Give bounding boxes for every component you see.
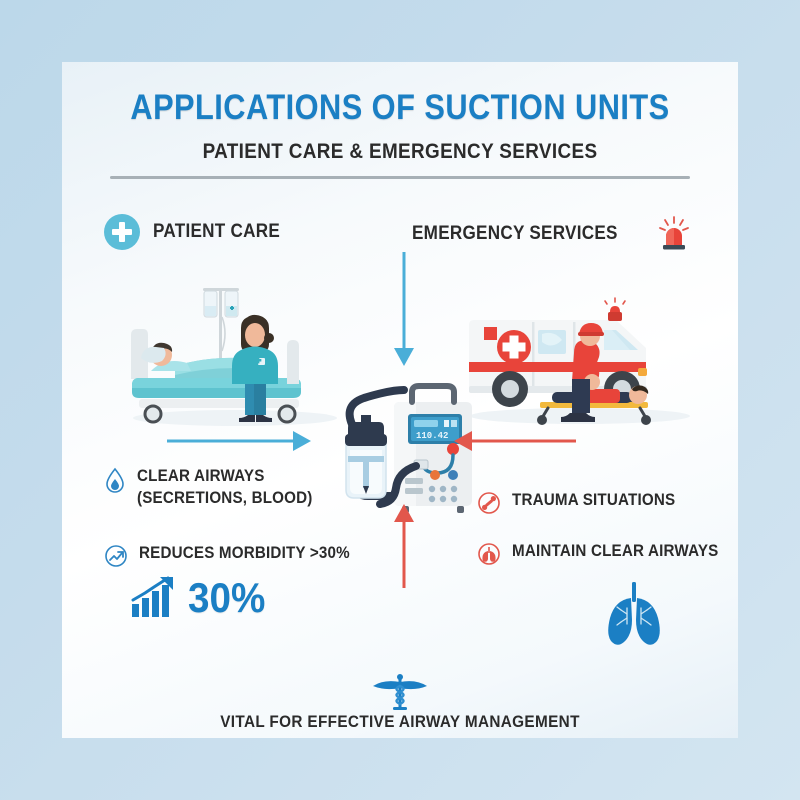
bullet-maintain-clear-airways: MAINTAIN CLEAR AIRWAYS xyxy=(477,541,736,566)
section-label-patient-care: PATIENT CARE xyxy=(153,221,280,243)
bullet-reduces-morbidity-text: REDUCES MORBIDITY >30% xyxy=(139,543,350,565)
arrow-right-from-patient-care xyxy=(167,430,313,457)
page-title: APPLICATIONS OF SUCTION UNITS xyxy=(103,88,698,128)
page-subtitle: PATIENT CARE & EMERGENCY SERVICES xyxy=(96,140,704,164)
bullet-clear-airways-text: CLEAR AIRWAYS (SECRETIONS, BLOOD) xyxy=(137,466,313,510)
bullet-reduces-morbidity: REDUCES MORBIDITY >30% xyxy=(104,543,368,568)
lungs-illustration xyxy=(597,580,671,651)
footer-text: VITAL FOR EFFECTIVE AIRWAY MANAGEMENT xyxy=(96,712,704,732)
lungs-circle-icon xyxy=(477,542,501,566)
arrow-left-from-emergency-services xyxy=(452,430,576,457)
bullet-line-2: (SECRETIONS, BLOOD) xyxy=(137,488,313,510)
bullet-trauma-situations: TRAUMA SITUATIONS xyxy=(477,490,690,515)
stat-block: 30% xyxy=(130,574,272,622)
header-divider xyxy=(110,176,690,179)
bullet-line-1: CLEAR AIRWAYS xyxy=(137,466,313,488)
bar-chart-growth-icon xyxy=(130,576,178,620)
emergency-siren-light-icon xyxy=(654,214,694,254)
bullet-maintain-clear-airways-text: MAINTAIN CLEAR AIRWAYS xyxy=(512,541,718,563)
section-header-emergency-services: EMERGENCY SERVICES xyxy=(412,214,694,254)
section-label-emergency-services: EMERGENCY SERVICES xyxy=(412,223,618,245)
patient-in-hospital-bed-illustration xyxy=(117,262,347,437)
water-drop-icon xyxy=(104,467,126,493)
arrow-down-to-device xyxy=(392,252,416,373)
plus-badge-icon xyxy=(104,214,140,250)
device-display-value: 110.42 xyxy=(416,431,448,441)
bullet-trauma-situations-text: TRAUMA SITUATIONS xyxy=(512,490,675,512)
arrow-up-to-device xyxy=(392,502,416,593)
bandage-circle-icon xyxy=(477,491,501,515)
trend-up-circle-icon xyxy=(104,544,128,568)
infographic-card: APPLICATIONS OF SUCTION UNITS PATIENT CA… xyxy=(62,62,738,738)
ambulance-emergency-illustration xyxy=(462,282,702,437)
stat-value: 30% xyxy=(188,574,265,622)
infographic-stage: APPLICATIONS OF SUCTION UNITS PATIENT CA… xyxy=(0,0,800,800)
section-header-patient-care: PATIENT CARE xyxy=(104,214,294,250)
bullet-clear-airways: CLEAR AIRWAYS (SECRETIONS, BLOOD) xyxy=(104,466,328,510)
